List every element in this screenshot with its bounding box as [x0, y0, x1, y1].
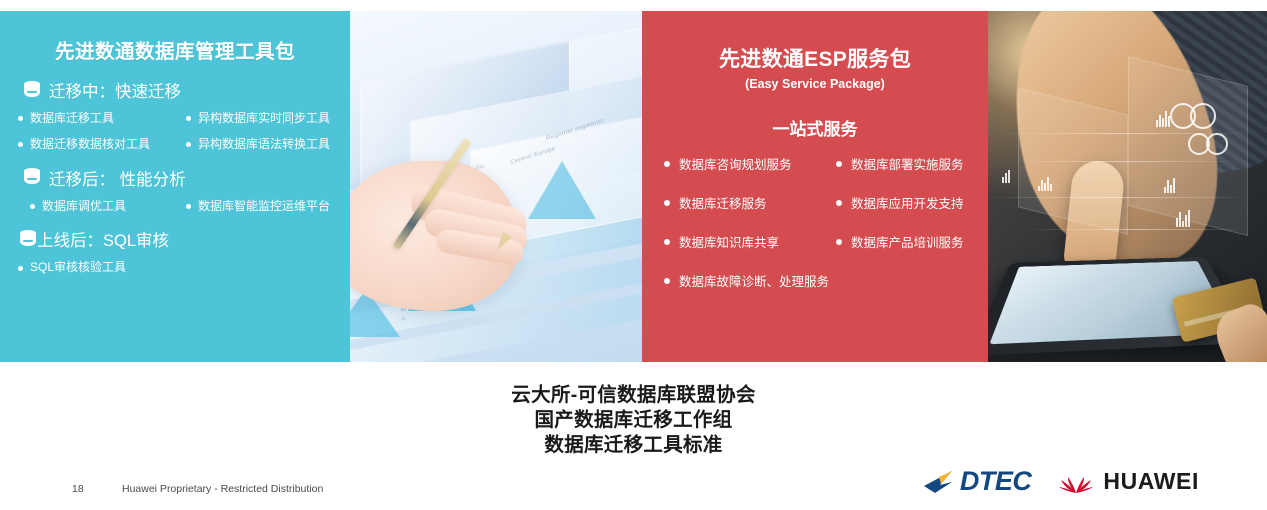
red-panel: 先进数通ESP服务包 (Easy Service Package) 一站式服务 …: [642, 11, 988, 362]
list-item: SQL审核核验工具: [18, 261, 336, 275]
list-item-label: 异构数据库实时同步工具: [198, 112, 330, 126]
list-item: 数据库智能监控运维平台: [186, 200, 336, 214]
bullet-dot-icon: [664, 239, 670, 245]
caption-block: 云大所-可信数据库联盟协会 国产数据库迁移工作组 数据库迁移工具标准: [0, 383, 1267, 458]
list-item-label: 数据库应用开发支持: [851, 193, 964, 212]
bullet-dot-icon: [18, 266, 23, 271]
list-item: 数据迁移数据核对工具: [18, 138, 186, 152]
huawei-wordmark: HUAWEI: [1103, 470, 1199, 493]
list-item: 异构数据库实时同步工具: [186, 112, 336, 126]
list-item-label: 数据库调优工具: [42, 200, 126, 214]
bullet-dot-icon: [836, 200, 842, 206]
logo-group: DTEC HUAWEI: [922, 468, 1199, 495]
red-bullet-grid-last: 数据库故障诊断、处理服务: [664, 271, 978, 290]
slide-footer: 18 Huawei Proprietary - Restricted Distr…: [0, 478, 1267, 510]
bullet-dot-icon: [836, 161, 842, 167]
caption-line-1: 云大所-可信数据库联盟协会: [0, 383, 1267, 408]
list-item-label: 数据库迁移服务: [679, 193, 767, 212]
list-item: 数据库应用开发支持: [836, 193, 978, 212]
dtec-logo: DTEC: [922, 468, 1032, 495]
red-panel-section-heading: 一站式服务: [652, 115, 978, 140]
list-item: 数据库故障诊断、处理服务: [664, 271, 978, 290]
list-item: 异构数据库语法转换工具: [186, 138, 336, 152]
holographic-ray: [998, 133, 1248, 134]
holographic-bar-chart-icon: [1038, 175, 1052, 191]
list-item: 数据库迁移工具: [18, 112, 186, 126]
bullet-dot-icon: [836, 239, 842, 245]
bullet-dot-icon: [186, 204, 191, 209]
teal-panel: 先进数通数据库管理工具包 迁移中：快速迁移 数据库迁移工具 异构数据库实时同步工…: [0, 11, 350, 362]
bullet-dot-icon: [18, 142, 23, 147]
list-item-label: 数据库智能监控运维平台: [198, 200, 330, 214]
teal-bullet-grid-migrating: 数据库迁移工具 异构数据库实时同步工具 数据迁移数据核对工具 异构数据库语法转换…: [18, 112, 336, 152]
holographic-bar-chart-icon: [1156, 109, 1170, 127]
holographic-bar-chart-icon: [1002, 169, 1010, 183]
dtec-mark-icon: [922, 469, 958, 495]
bullet-dot-icon: [30, 204, 35, 209]
holographic-bar-chart-icon: [1176, 209, 1190, 227]
page-number: 18: [72, 483, 84, 495]
database-icon: [24, 81, 40, 100]
teal-section-heading-text: 迁移中：快速迁移: [49, 78, 181, 102]
caption-line-2: 国产数据库迁移工作组: [0, 408, 1267, 433]
list-item: 数据库咨询规划服务: [664, 154, 836, 173]
dtec-wordmark: DTEC: [960, 468, 1032, 495]
teal-section-heading-migrating: 迁移中：快速迁移: [24, 78, 336, 102]
list-item-label: 数据库产品培训服务: [851, 232, 964, 251]
confidentiality-note: Huawei Proprietary - Restricted Distribu…: [122, 483, 323, 495]
caption-line-3: 数据库迁移工具标准: [0, 433, 1267, 458]
bullet-dot-icon: [664, 200, 670, 206]
teal-section-heading-after-launch: 上线后：SQL审核: [20, 227, 336, 251]
teal-bullet-grid-after-launch: SQL审核核验工具: [18, 261, 336, 275]
holographic-ray: [1008, 161, 1238, 162]
list-item-label: 数据库知识库共享: [679, 232, 779, 251]
bullet-dot-icon: [18, 116, 23, 121]
holographic-ring-icon: [1206, 133, 1228, 155]
list-item-label: SQL审核核验工具: [30, 261, 126, 275]
teal-section-heading-text: 上线后：SQL审核: [37, 227, 169, 251]
list-item: 数据库部署实施服务: [836, 154, 978, 173]
list-item-label: 数据库咨询规划服务: [679, 154, 792, 173]
list-item-label: 数据库部署实施服务: [851, 154, 964, 173]
database-icon: [24, 168, 40, 187]
holographic-ray: [988, 197, 1248, 198]
red-bullet-grid: 数据库咨询规划服务 数据库部署实施服务 数据库迁移服务 数据库应用开发支持 数据…: [664, 154, 978, 251]
bullet-dot-icon: [664, 278, 670, 284]
bullet-dot-icon: [186, 116, 191, 121]
list-item-label: 数据库迁移工具: [30, 112, 114, 126]
holographic-ring-icon: [1190, 103, 1216, 129]
hand-touching-tablet-photo: [988, 11, 1267, 362]
teal-section-heading-after-migration: 迁移后： 性能分析: [24, 166, 336, 190]
list-item: 数据库产品培训服务: [836, 232, 978, 251]
list-item-label: 异构数据库语法转换工具: [198, 138, 330, 152]
list-item-label: 数据迁移数据核对工具: [30, 138, 150, 152]
bullet-dot-icon: [664, 161, 670, 167]
holographic-bar-chart-icon: [1164, 177, 1175, 193]
list-item: 数据库调优工具: [30, 200, 186, 214]
list-item: 数据库迁移服务: [664, 193, 836, 212]
huawei-flower-icon: [1057, 469, 1095, 495]
huawei-logo: HUAWEI: [1057, 469, 1199, 495]
red-panel-title: 先进数通ESP服务包: [652, 43, 978, 73]
list-item-label: 数据库故障诊断、处理服务: [679, 271, 829, 290]
banner-strip: Regional segments Central Europe West Eu…: [0, 11, 1267, 362]
list-item: 数据库知识库共享: [664, 232, 836, 251]
bullet-dot-icon: [186, 142, 191, 147]
teal-bullet-grid-after-migration: 数据库调优工具 数据库智能监控运维平台: [18, 200, 336, 214]
hand-writing-on-charts-photo: Regional segments Central Europe West Eu…: [350, 11, 642, 362]
slide-root: Regional segments Central Europe West Eu…: [0, 0, 1267, 510]
teal-panel-title: 先进数通数据库管理工具包: [14, 35, 336, 64]
holographic-ray: [1028, 229, 1248, 230]
teal-section-heading-text: 迁移后： 性能分析: [49, 166, 186, 190]
database-icon: [20, 230, 36, 249]
red-panel-subtitle: (Easy Service Package): [652, 77, 978, 91]
